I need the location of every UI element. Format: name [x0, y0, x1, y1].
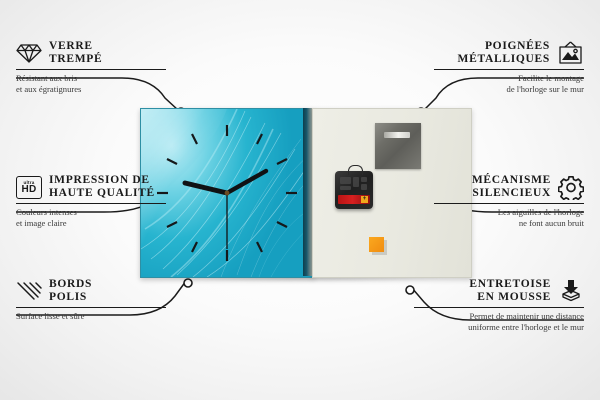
- feature-rule: [16, 203, 166, 204]
- hanging-frame-icon: [557, 41, 584, 65]
- feature-rule: [434, 203, 584, 204]
- feature-rule: [16, 69, 166, 70]
- feature-verre-trempe: VERRE TREMPÉ Résistant aux bris et aux é…: [16, 40, 166, 94]
- feature-subtitle: Les aiguilles de l'horloge ne font aucun…: [434, 207, 584, 228]
- feature-rule: [414, 307, 584, 308]
- product-group: +: [140, 108, 470, 280]
- battery-plus-terminal: +: [361, 196, 368, 203]
- battery: +: [338, 195, 370, 204]
- feature-subtitle: Couleurs intenses et image claire: [16, 207, 166, 228]
- mechanism-hanging-loop: [348, 165, 363, 175]
- feature-bords-polis: BORDS POLIS Surface lisse et sûre: [16, 278, 166, 322]
- marker-entretoise: [406, 286, 414, 294]
- feature-title: IMPRESSION DE HAUTE QUALITÉ: [49, 174, 155, 200]
- clock-front-panel: [140, 108, 314, 278]
- foam-spacer-part: [369, 237, 384, 252]
- minute-hand: [227, 171, 266, 193]
- ultra-hd-icon-main-label: HD: [21, 185, 36, 195]
- feature-poignees-metalliques: POIGNÉES MÉTALLIQUES Facilite le montage…: [434, 40, 584, 94]
- feature-title: MÉCANISME SILENCIEUX: [472, 174, 551, 200]
- feature-impression-haute-qualite: ultra HD IMPRESSION DE HAUTE QUALITÉ Cou…: [16, 174, 166, 228]
- ultra-hd-icon: ultra HD: [16, 176, 42, 199]
- clock-center-cap: [225, 191, 230, 196]
- feature-rule: [16, 307, 166, 308]
- metal-hanger-bracket: [375, 123, 421, 169]
- feature-title: BORDS POLIS: [49, 278, 92, 304]
- feature-subtitle: Surface lisse et sûre: [16, 311, 166, 321]
- mechanism-detail: [339, 176, 369, 192]
- feature-entretoise-en-mousse: ENTRETOISE EN MOUSSE Permet de maintenir…: [414, 278, 584, 332]
- polished-edge-icon: [16, 280, 42, 302]
- hour-hand: [185, 183, 227, 193]
- feature-subtitle: Résistant aux bris et aux égratignures: [16, 73, 166, 94]
- infographic-canvas: + VERRE TREMPÉ Résistant aux bris et aux…: [0, 0, 600, 400]
- clock-mechanism: +: [335, 171, 373, 209]
- gear-icon: [558, 175, 584, 200]
- feature-subtitle: Permet de maintenir une distance uniform…: [414, 311, 584, 332]
- feature-subtitle: Facilite le montage de l'horloge sur le …: [434, 73, 584, 94]
- foam-spacer-icon: [558, 279, 584, 303]
- feature-title: POIGNÉES MÉTALLIQUES: [458, 40, 550, 66]
- feature-title: ENTRETOISE EN MOUSSE: [469, 278, 551, 304]
- bracket-slot: [384, 132, 410, 138]
- feature-rule: [434, 69, 584, 70]
- feature-title: VERRE TREMPÉ: [49, 40, 102, 66]
- feature-mecanisme-silencieux: MÉCANISME SILENCIEUX Les aiguilles de l'…: [434, 174, 584, 228]
- diamond-icon: [16, 42, 42, 64]
- glass-edge: [303, 108, 312, 276]
- clock-dial: [141, 109, 313, 277]
